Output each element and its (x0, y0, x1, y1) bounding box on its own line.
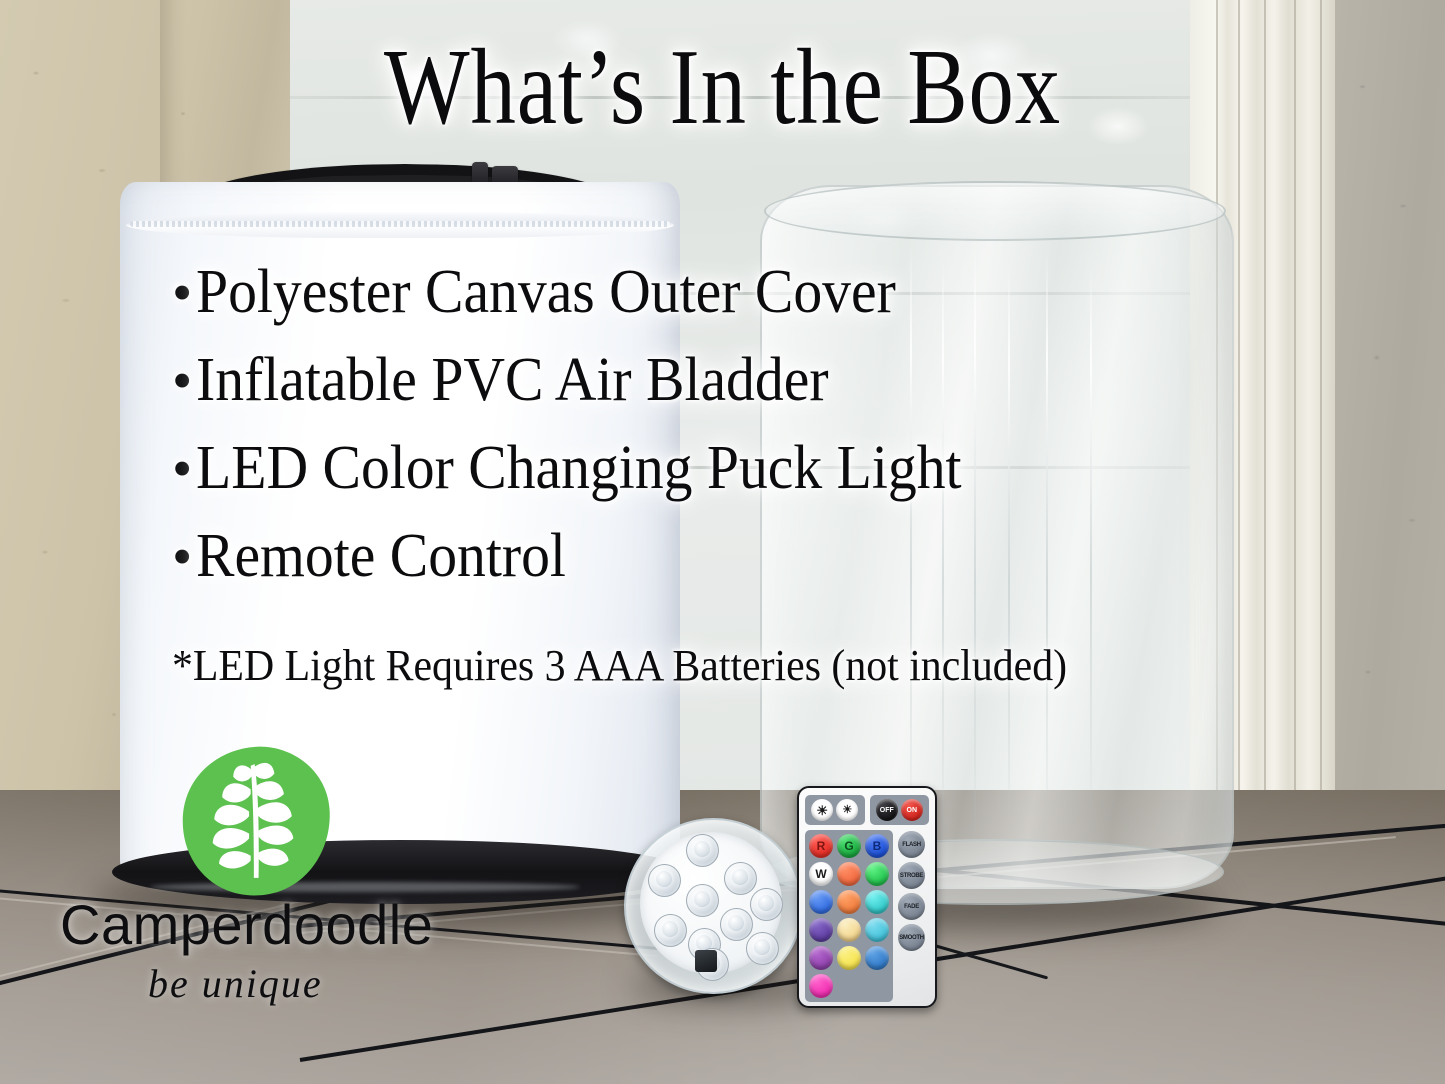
color-button-grid: R G B W (805, 830, 893, 1002)
led-lens (686, 884, 719, 917)
led-lens (724, 862, 757, 895)
bullet-marker: • (172, 352, 192, 410)
color-button-swatch[interactable] (809, 890, 833, 914)
footnote: *LED Light Requires 3 AAA Batteries (not… (172, 640, 1236, 691)
smooth-button[interactable]: SMOOTH (898, 924, 925, 951)
list-item: • LED Color Changing Puck Light (172, 424, 1232, 512)
led-lens (654, 914, 687, 947)
list-item: • Polyester Canvas Outer Cover (172, 248, 1232, 336)
color-button-swatch[interactable] (865, 918, 889, 942)
color-button-swatch[interactable] (865, 946, 889, 970)
page-title: What’s In the Box (116, 34, 1330, 142)
brand-name: Camperdoodle (60, 892, 480, 957)
bullet-marker: • (172, 440, 192, 498)
list-item-label: Polyester Canvas Outer Cover (196, 248, 896, 336)
power-pad: OFF ON (870, 795, 930, 825)
power-off-button[interactable]: OFF (876, 799, 898, 821)
list-item-label: LED Color Changing Puck Light (196, 424, 962, 512)
list-item-label: Remote Control (196, 512, 566, 600)
list-item-label: Inflatable PVC Air Bladder (196, 336, 829, 424)
list-item: • Remote Control (172, 512, 1232, 600)
led-lens (750, 888, 783, 921)
puck-face (640, 832, 782, 974)
zipper (126, 212, 674, 238)
ir-sensor-icon (695, 950, 717, 972)
color-button-swatch[interactable] (865, 890, 889, 914)
power-on-button[interactable]: ON (901, 799, 923, 821)
led-lens (686, 834, 719, 867)
product-marketing-image: ☀ ☀ OFF ON R G B W (0, 0, 1445, 1084)
led-lens (720, 908, 753, 941)
flash-button[interactable]: FLASH (898, 831, 925, 858)
color-button-blue[interactable]: B (865, 834, 889, 858)
bullet-marker: • (172, 528, 192, 586)
color-button-swatch[interactable] (809, 946, 833, 970)
fern-leaf-icon (178, 742, 336, 900)
remote-control[interactable]: ☀ ☀ OFF ON R G B W (797, 786, 937, 1008)
brand-logo: Camperdoodle be unique (60, 742, 480, 1032)
led-color-changing-puck-light (624, 812, 799, 997)
mode-button-group: FLASH STROBE FADE SMOOTH (898, 830, 925, 1002)
color-button-swatch[interactable] (865, 862, 889, 886)
led-lens (648, 864, 681, 897)
color-button-swatch[interactable] (837, 946, 861, 970)
color-button-green[interactable]: G (837, 834, 861, 858)
color-button-swatch[interactable] (837, 918, 861, 942)
brightness-pad: ☀ ☀ (805, 795, 865, 825)
color-button-swatch[interactable] (837, 862, 861, 886)
brand-tagline: be unique (148, 960, 478, 1007)
color-button-red[interactable]: R (809, 834, 833, 858)
brightness-down-button[interactable]: ☀ (836, 799, 858, 821)
fade-button[interactable]: FADE (898, 893, 925, 920)
brightness-up-button[interactable]: ☀ (811, 799, 833, 821)
led-lens (746, 932, 779, 965)
color-button-swatch[interactable] (809, 918, 833, 942)
color-button-swatch[interactable] (837, 890, 861, 914)
bullet-marker: • (172, 264, 192, 322)
color-button-white[interactable]: W (809, 862, 833, 886)
color-button-swatch[interactable] (809, 974, 833, 998)
feature-list: • Polyester Canvas Outer Cover • Inflata… (172, 248, 1232, 600)
strobe-button[interactable]: STROBE (898, 862, 925, 889)
list-item: • Inflatable PVC Air Bladder (172, 336, 1232, 424)
